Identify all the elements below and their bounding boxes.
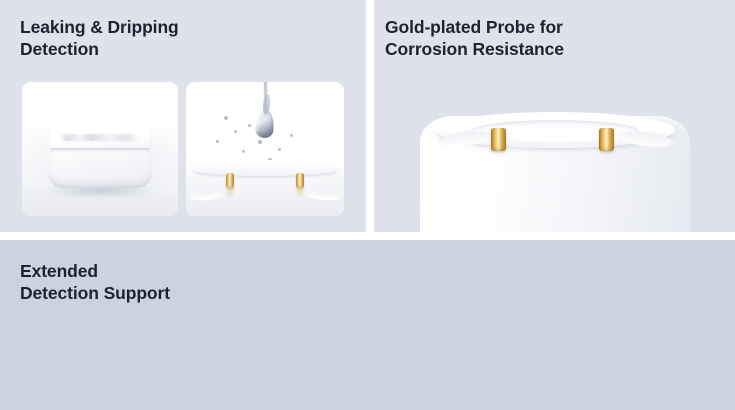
gold-probe-right (296, 173, 304, 188)
panel-leaking-dripping-detection: Leaking & Dripping Detection (0, 0, 366, 232)
device-seam-line (50, 148, 150, 152)
device-brand-emboss (60, 134, 140, 141)
gold-plated-probe-right (599, 128, 614, 151)
water-speck (258, 140, 262, 144)
water-speck (248, 124, 251, 127)
water-speck (224, 116, 228, 120)
photo-card-device (22, 82, 178, 216)
panel-probe-heading: Gold-plated Probe for Corrosion Resistan… (385, 16, 564, 61)
water-speck (234, 130, 237, 133)
panel-extended-heading: Extended Detection Support (20, 260, 170, 305)
panel-extended-detection-support: Extended Detection Support (0, 240, 735, 410)
water-speck (290, 134, 293, 137)
product-feature-collage: Leaking & Dripping Detection (0, 0, 735, 410)
device-top-highlight (66, 116, 128, 124)
water-speck (278, 148, 281, 151)
sensor-underside-rim (192, 163, 338, 176)
gold-probe-left (226, 173, 234, 188)
photo-card-droplet (186, 82, 344, 216)
gold-plated-probe-left (491, 128, 506, 151)
panel-gold-plated-probe: Gold-plated Probe for Corrosion Resistan… (374, 0, 735, 232)
panel-leaking-heading: Leaking & Dripping Detection (20, 16, 179, 61)
water-speck (242, 150, 245, 153)
water-speck (216, 140, 219, 143)
